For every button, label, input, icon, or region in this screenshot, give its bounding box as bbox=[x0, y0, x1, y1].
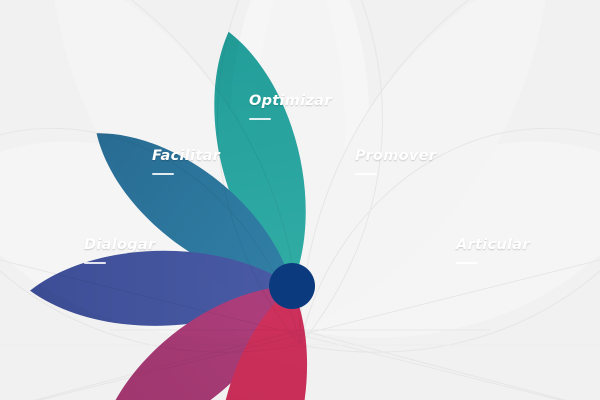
petal-label-promover-text: Promover bbox=[355, 148, 436, 164]
label-dash-optimizar bbox=[249, 118, 271, 120]
center-hub[interactable] bbox=[269, 263, 315, 309]
lotus-diagram: Dialogar Facilitar Optimizar Promover Ar… bbox=[0, 0, 600, 400]
label-dash-articular bbox=[456, 262, 478, 264]
petal-label-dialogar-text: Dialogar bbox=[84, 237, 155, 253]
petal-layer bbox=[0, 0, 600, 400]
petal-label-optimizar-text: Optimizar bbox=[249, 93, 332, 109]
petal-label-dialogar[interactable]: Dialogar bbox=[84, 237, 155, 264]
petal-label-articular[interactable]: Articular bbox=[456, 237, 530, 264]
label-dash-dialogar bbox=[84, 262, 106, 264]
label-dash-facilitar bbox=[152, 173, 174, 175]
petal-label-facilitar-text: Facilitar bbox=[152, 148, 220, 164]
petal-shapes bbox=[29, 22, 330, 400]
petal-label-facilitar[interactable]: Facilitar bbox=[152, 148, 220, 175]
petal-label-optimizar[interactable]: Optimizar bbox=[249, 93, 332, 120]
petal-label-articular-text: Articular bbox=[456, 237, 530, 253]
label-dash-promover bbox=[355, 173, 377, 175]
petal-label-promover[interactable]: Promover bbox=[355, 148, 436, 175]
